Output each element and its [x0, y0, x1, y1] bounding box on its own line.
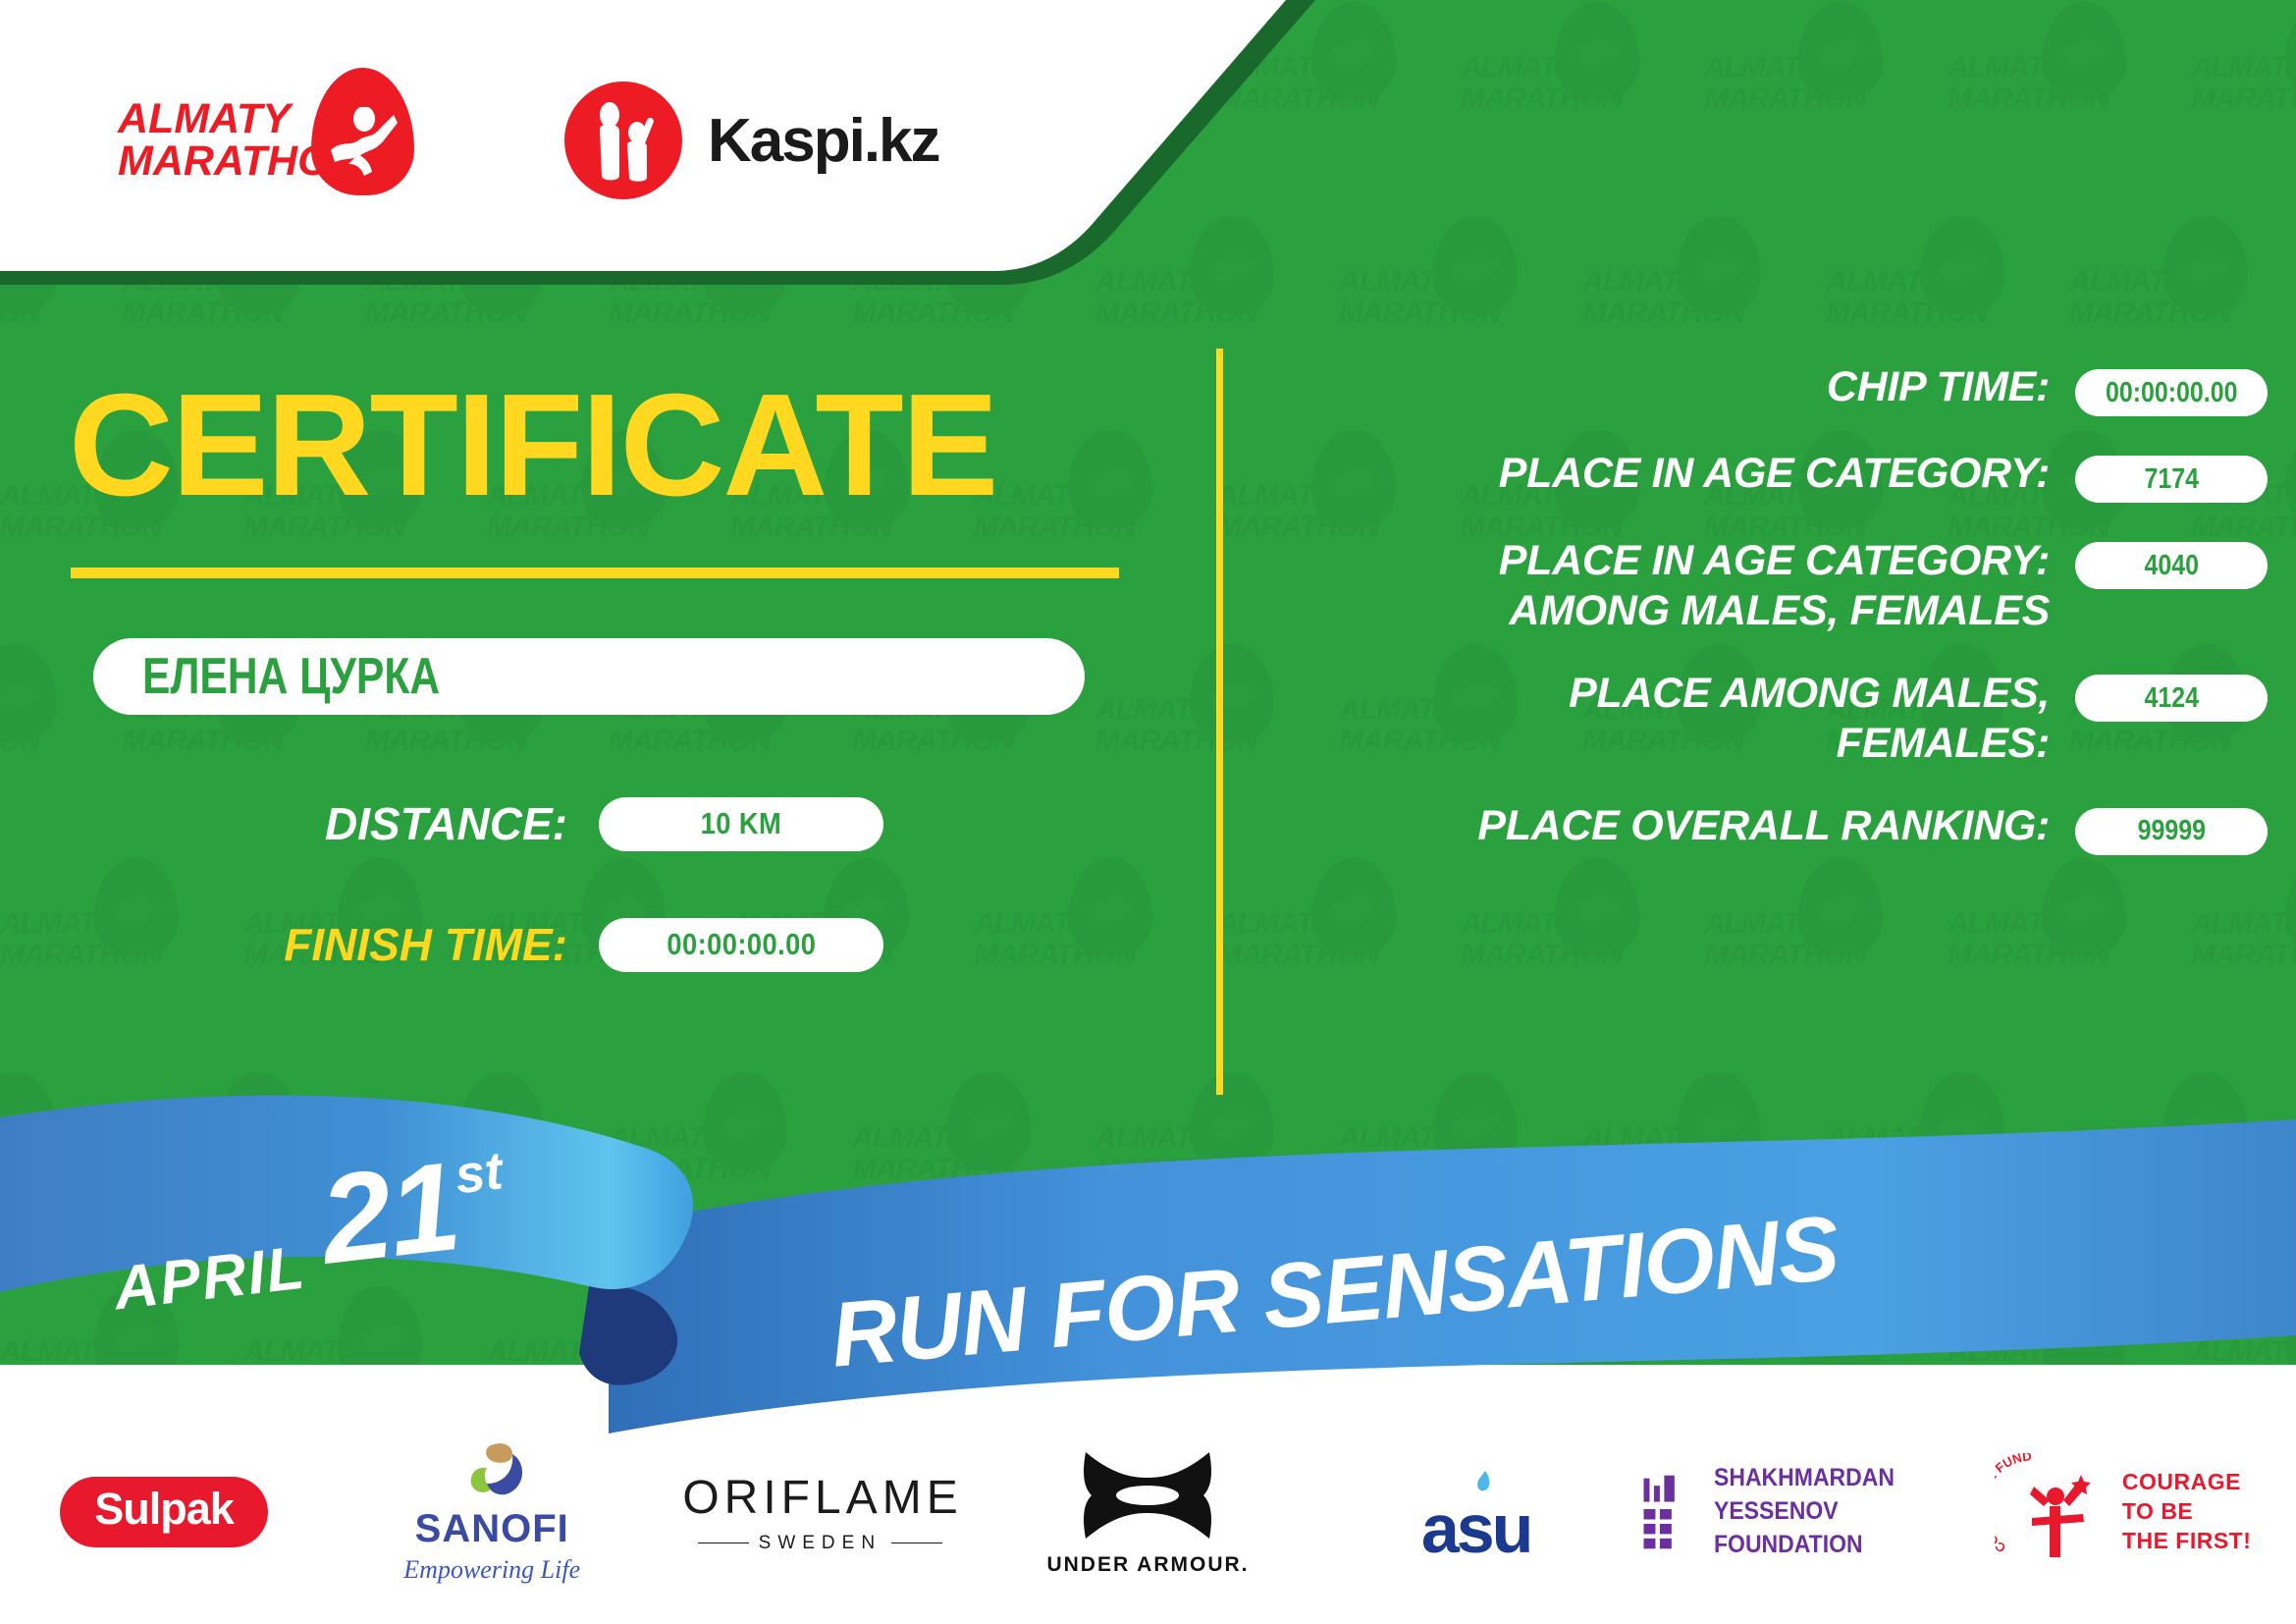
oriflame-logo: ORIFLAME SWEDEN — [682, 1471, 957, 1554]
results-stats: CHIP TIME: 00:00:00.00 PLACE IN AGE CATE… — [1247, 363, 2268, 889]
finish-time-value-pill: 00:00:00.00 — [599, 918, 883, 972]
sanofi-wordmark: SANOFI — [379, 1507, 605, 1551]
watermark-tile: ALMATYMARATHON — [1582, 214, 1779, 386]
distance-value-pill: 10 KM — [599, 797, 883, 851]
sanofi-logo: SANOFI Empowering Life — [379, 1440, 605, 1585]
place-age-category-gender-value-pill: 4040 — [2075, 542, 2268, 589]
sulpak-wordmark: Sulpak — [94, 1484, 234, 1535]
watermark-line2: MARATHON — [1095, 725, 1257, 758]
oriflame-rule-right — [891, 1543, 942, 1544]
courage-line2: TO BE — [2122, 1497, 2252, 1527]
distance-label: DISTANCE: — [0, 797, 599, 850]
ribbon-day: 21 — [314, 1134, 465, 1293]
sponsor-yessenov: SHAKHMARDAN YESSENOV FOUNDATION — [1640, 1434, 1968, 1591]
distance-row: DISTANCE: 10 KM — [0, 790, 982, 857]
oriflame-sub: SWEDEN — [682, 1533, 957, 1554]
watermark-tile: ALMATYMARATHON — [1461, 0, 1657, 172]
watermark-tile: ALMATYMARATHON — [1948, 0, 2144, 172]
place-age-category-gender-label-line1: PLACE IN AGE CATEGORY: — [1247, 536, 2050, 586]
sponsor-asu: asu — [1312, 1434, 1640, 1591]
chip-time-label: CHIP TIME: — [1247, 363, 2075, 410]
place-among-gender-label: PLACE AMONG MALES, FEMALES: — [1247, 669, 2075, 768]
watermark-line2: MARATHON — [2191, 939, 2296, 972]
oriflame-wordmark: ORIFLAME — [682, 1471, 957, 1525]
title-underline — [71, 568, 1119, 578]
watermark-line1: ALMATY — [1826, 265, 1941, 298]
place-age-category-label: PLACE IN AGE CATEGORY: — [1247, 450, 2075, 497]
place-age-category-gender-value: 4040 — [2144, 550, 2198, 582]
watermark-line1: ALMATY — [1704, 51, 1819, 84]
watermark-tile: ALMATYMARATHON — [974, 856, 1170, 1028]
courage-line3: THE FIRST! — [2122, 1527, 2252, 1556]
asu-logo: asu — [1383, 1457, 1570, 1568]
page-title: CERTIFICATE — [69, 373, 996, 518]
place-age-category-gender-label: PLACE IN AGE CATEGORY: AMONG MALES, FEMA… — [1247, 536, 2075, 635]
yessenov-wordmark: SHAKHMARDAN YESSENOV FOUNDATION — [1714, 1462, 1966, 1561]
certificate-page: ALMATYMARATHONALMATYMARATHONALMATYMARATH… — [0, 0, 2296, 1624]
place-overall-row: PLACE OVERALL RANKING: 99999 — [1247, 802, 2268, 855]
watermark-line2: MARATHON — [1095, 297, 1257, 330]
courage-line1: COURAGE — [2122, 1468, 2252, 1497]
watermark-line2: MARATHON — [1704, 82, 1866, 116]
left-stats: DISTANCE: 10 KM FINISH TIME: 00:00:00.00 — [0, 790, 982, 1032]
yessenov-line2: FOUNDATION — [1714, 1529, 1946, 1562]
watermark-line2: MARATHON — [1461, 939, 1623, 972]
watermark-tile: ALMATYMARATHON — [0, 642, 75, 814]
kaspi-people-icon — [564, 81, 682, 199]
yessenov-logo: SHAKHMARDAN YESSENOV FOUNDATION — [1642, 1462, 1966, 1561]
place-overall-label: PLACE OVERALL RANKING: — [1247, 802, 2075, 849]
asu-wordmark: asu — [1383, 1489, 1570, 1568]
watermark-line1: ALMATY — [1461, 907, 1575, 941]
under-armour-icon — [1074, 1448, 1221, 1543]
sulpak-logo: Sulpak — [60, 1477, 268, 1547]
oriflame-rule-left — [698, 1543, 749, 1544]
watermark-tile: ALMATYMARATHON — [2191, 0, 2296, 172]
watermark-tile: ALMATYMARATHON — [1704, 0, 1900, 172]
place-overall-value: 99999 — [2137, 815, 2205, 847]
oriflame-subtext: SWEDEN — [759, 1533, 881, 1554]
kaspi-logo: Kaspi.kz — [564, 81, 939, 199]
under-armour-wordmark: UNDER ARMOUR. — [1035, 1553, 1260, 1577]
distance-value: 10 KM — [701, 806, 782, 841]
place-among-gender-value-pill: 4124 — [2075, 675, 2268, 722]
watermark-line2: MARATHON — [852, 297, 1014, 330]
watermark-line2: MARATHON — [974, 939, 1136, 972]
watermark-line1: ALMATY — [974, 907, 1089, 941]
sponsor-oriflame: ORIFLAME SWEDEN — [656, 1434, 984, 1591]
place-among-gender-label-line1: PLACE AMONG MALES, — [1247, 669, 2050, 719]
watermark-line1: ALMATY — [1948, 51, 2062, 84]
sanofi-tagline: Empowering Life — [379, 1555, 605, 1585]
watermark-line1: ALMATY — [1704, 907, 1819, 941]
sanofi-mark-icon — [379, 1440, 605, 1505]
kaspi-wordmark: Kaspi.kz — [708, 106, 939, 176]
watermark-line1: ALMATY — [2191, 51, 2296, 84]
watermark-line2: MARATHON — [1948, 939, 2109, 972]
watermark-line2: MARATHON — [1217, 939, 1379, 972]
watermark-line2: MARATHON — [1582, 297, 1744, 330]
watermark-line2: MARATHON — [974, 511, 1136, 544]
yessenov-bars-icon — [1642, 1463, 1690, 1561]
watermark-line2: MARATHON — [852, 725, 1014, 758]
yessenov-line1: SHAKHMARDAN YESSENOV — [1714, 1462, 1946, 1529]
under-armour-logo: UNDER ARMOUR. — [1035, 1448, 1260, 1577]
place-among-gender-value: 4124 — [2144, 682, 2198, 715]
watermark-line1: ALMATY — [1095, 693, 1210, 727]
watermark-line2: MARATHON — [1704, 939, 1866, 972]
watermark-line2: MARATHON — [2191, 82, 2296, 116]
watermark-line1: ALMATY — [1582, 265, 1697, 298]
watermark-line1: ALMATY — [1461, 51, 1575, 84]
header-banner: ALMATY MARATHON Kaspi.kz — [0, 0, 1374, 295]
sponsor-sanofi: SANOFI Empowering Life — [328, 1434, 656, 1591]
finish-time-row: FINISH TIME: 00:00:00.00 — [0, 911, 982, 978]
watermark-line2: MARATHON — [609, 297, 771, 330]
watermark-line2: MARATHON — [122, 297, 284, 330]
participant-name-field: ЕЛЕНА ЦУРКА — [93, 638, 1085, 715]
almaty-marathon-logo: ALMATY MARATHON — [118, 62, 432, 219]
watermark-line1: ALMATY — [2191, 907, 2296, 941]
chip-time-row: CHIP TIME: 00:00:00.00 — [1247, 363, 2268, 416]
sponsor-courage: CORPORATE FUND COURAGE TO BE THE FIRST! — [1968, 1434, 2296, 1591]
place-age-category-row: PLACE IN AGE CATEGORY: 7174 — [1247, 450, 2268, 503]
watermark-line2: MARATHON — [0, 297, 40, 330]
place-among-gender-row: PLACE AMONG MALES, FEMALES: 4124 — [1247, 669, 2268, 768]
sponsor-sulpak: Sulpak — [0, 1434, 328, 1591]
courage-figure-icon: CORPORATE FUND — [1995, 1453, 2112, 1571]
watermark-tile: ALMATYMARATHON — [2069, 214, 2266, 386]
watermark-line2: MARATHON — [365, 297, 527, 330]
watermark-tile: ALMATYMARATHON — [1826, 214, 2022, 386]
ribbon-ordinal: st — [452, 1140, 506, 1206]
place-overall-value-pill: 99999 — [2075, 808, 2268, 855]
place-age-category-gender-label-line2: AMONG MALES, FEMALES — [1247, 586, 2050, 636]
place-age-category-value-pill: 7174 — [2075, 456, 2268, 503]
courage-wordmark: COURAGE TO BE THE FIRST! — [2122, 1468, 2252, 1556]
watermark-line2: MARATHON — [0, 725, 40, 758]
finish-time-label: FINISH TIME: — [0, 918, 599, 971]
watermark-line2: MARATHON — [1826, 297, 1988, 330]
courage-logo: CORPORATE FUND COURAGE TO BE THE FIRST! — [1995, 1453, 2269, 1571]
svg-text:CORPORATE FUND: CORPORATE FUND — [1995, 1453, 2032, 1556]
vertical-divider — [1216, 349, 1223, 1095]
chip-time-value-pill: 00:00:00.00 — [2075, 369, 2268, 416]
chip-time-value: 00:00:00.00 — [2106, 377, 2238, 409]
watermark-line1: ALMATY — [1948, 907, 2062, 941]
finish-time-value: 00:00:00.00 — [667, 927, 816, 962]
almaty-drop-icon — [311, 68, 414, 195]
participant-name-value: ЕЛЕНА ЦУРКА — [142, 647, 440, 706]
place-age-category-value: 7174 — [2144, 463, 2198, 496]
place-among-gender-label-line2: FEMALES: — [1247, 719, 2050, 769]
watermark-line2: MARATHON — [1461, 82, 1623, 116]
watermark-line2: MARATHON — [1339, 297, 1501, 330]
sponsor-bar: Sulpak SANOFI Empowering Life ORIFLAME — [0, 1414, 2296, 1610]
watermark-line2: MARATHON — [2069, 297, 2231, 330]
sponsor-under-armour: UNDER ARMOUR. — [984, 1434, 1311, 1591]
watermark-line1: ALMATY — [1217, 907, 1332, 941]
watermark-line2: MARATHON — [1948, 82, 2109, 116]
watermark-line2: MARATHON — [365, 725, 527, 758]
watermark-line1: ALMATY — [2069, 265, 2184, 298]
watermark-line2: MARATHON — [609, 725, 771, 758]
place-age-category-gender-row: PLACE IN AGE CATEGORY: AMONG MALES, FEMA… — [1247, 536, 2268, 635]
watermark-line2: MARATHON — [122, 725, 284, 758]
